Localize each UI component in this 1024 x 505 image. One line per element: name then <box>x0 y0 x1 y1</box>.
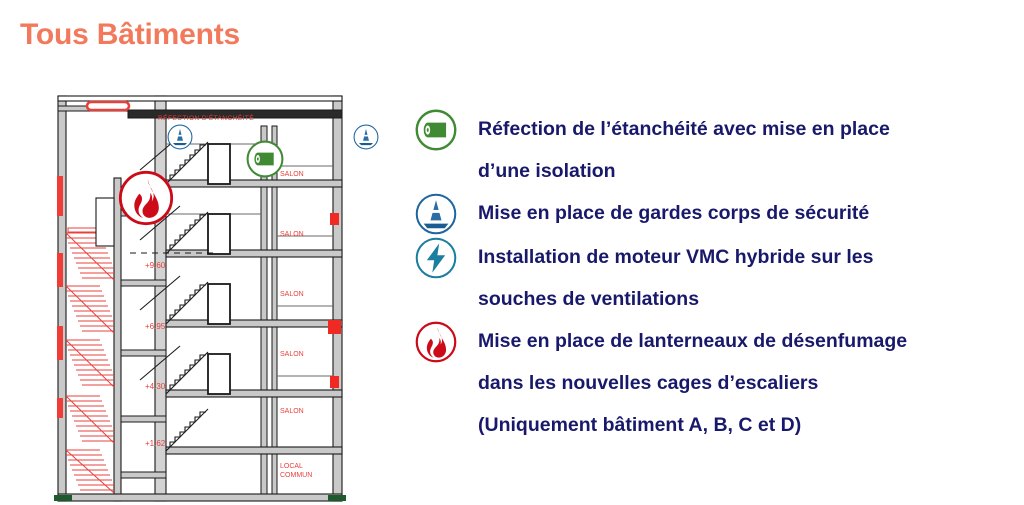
list-item-line: dans les nouvelles cages d’escaliers <box>478 362 1014 404</box>
list-item-line: Installation de moteur VMC hybride sur l… <box>478 236 1014 278</box>
list-item-line: souches de ventilations <box>478 278 1014 320</box>
list-item-text: Réfection de l’étanchéité avec mise en p… <box>478 108 1014 192</box>
room-label-3: SALON <box>280 291 304 298</box>
slide-root: Tous Bâtiments <box>0 0 1024 505</box>
list-item: Installation de moteur VMC hybride sur l… <box>414 236 1014 320</box>
door-openings <box>208 144 230 394</box>
lightning-bolt-icon <box>414 236 458 280</box>
plan-badge-traffic-cone-right <box>353 124 379 150</box>
list-item-text: Mise en place de lanterneaux de désenfum… <box>478 320 1014 446</box>
plan-badge-roll <box>246 140 284 178</box>
list-item-line: d’une isolation <box>478 150 1014 192</box>
list-item-line: (Uniquement bâtiment A, B, C et D) <box>478 404 1014 446</box>
stair-box <box>96 198 114 246</box>
list-item: Mise en place de lanterneaux de désenfum… <box>414 320 1014 446</box>
interior-lines <box>166 144 333 376</box>
list-item-text: Installation de moteur VMC hybride sur l… <box>478 236 1014 320</box>
list-item-line: Mise en place de gardes corps de sécurit… <box>478 192 1014 234</box>
traffic-cone-icon <box>414 192 458 236</box>
level-marker-3: +6.95 <box>145 322 166 331</box>
building-section-drawing: RÉFECTION D'ÉTANCHÉITÉ +12.25 +9.60 +6.9… <box>40 58 385 505</box>
level-marker-2: +9.60 <box>145 261 166 270</box>
flame-icon <box>414 320 458 364</box>
feature-list: Réfection de l’étanchéité avec mise en p… <box>414 108 1014 446</box>
level-marker-5: +1.62 <box>145 439 166 448</box>
list-item-line: Mise en place de lanterneaux de désenfum… <box>478 320 1014 362</box>
list-item-text: Mise en place de gardes corps de sécurit… <box>478 192 1014 234</box>
plan-caption: RÉFECTION D'ÉTANCHÉITÉ <box>158 113 254 122</box>
list-item-line: Réfection de l’étanchéité avec mise en p… <box>478 108 1014 150</box>
plan-structure <box>58 96 342 501</box>
traffic-cone-icon <box>353 124 379 150</box>
flame-icon <box>118 170 174 226</box>
plan-badge-traffic-cone-left <box>167 124 193 150</box>
room-label-5: SALON <box>280 408 304 415</box>
building-section-svg: RÉFECTION D'ÉTANCHÉITÉ +12.25 +9.60 +6.9… <box>40 58 385 505</box>
room-label-2: SALON <box>280 231 304 238</box>
ground-label-line2: COMMUN <box>280 472 312 479</box>
traffic-cone-icon <box>167 124 193 150</box>
page-title: Tous Bâtiments <box>20 18 240 52</box>
level-marker-4: +4.30 <box>145 382 166 391</box>
list-item: Mise en place de gardes corps de sécurit… <box>414 192 1014 236</box>
roll-icon <box>414 108 458 152</box>
ground-label-line1: LOCAL <box>280 463 303 470</box>
room-label-4: SALON <box>280 351 304 358</box>
roll-icon <box>246 140 284 178</box>
list-item: Réfection de l’étanchéité avec mise en p… <box>414 108 1014 192</box>
roof-skylight <box>87 102 129 110</box>
plan-badge-flame <box>118 170 174 226</box>
